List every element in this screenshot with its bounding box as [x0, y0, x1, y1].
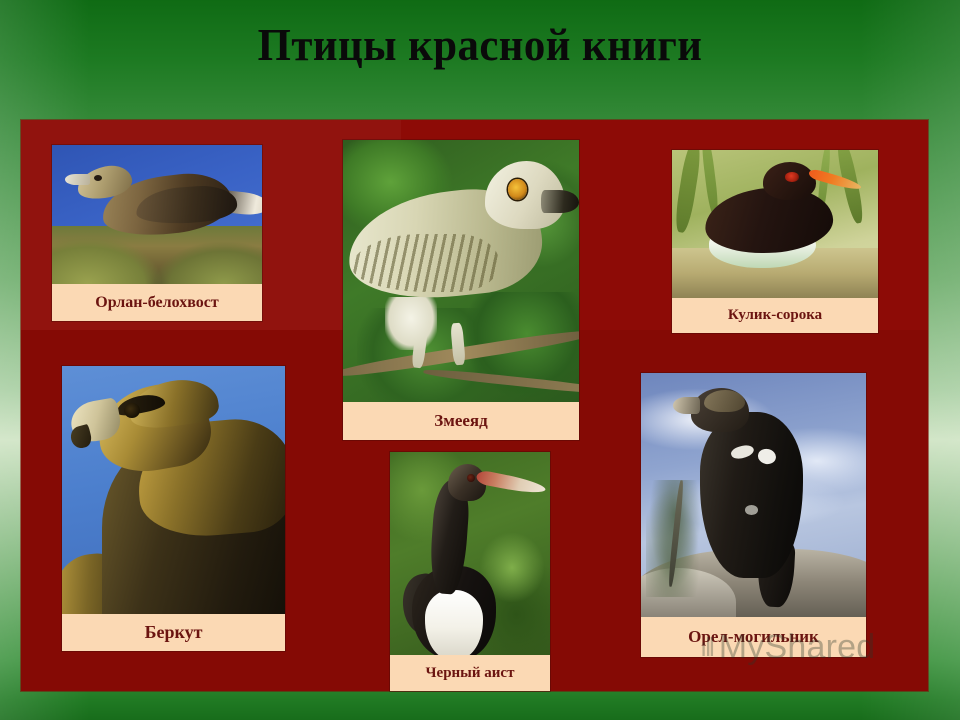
- bird-photo-zmeeyad: [343, 140, 579, 402]
- bird-card-berkut[interactable]: Беркут: [62, 366, 285, 651]
- bird-caption-orel-mogilnik: Орел-могильник: [641, 617, 866, 657]
- bird-photo-berkut: [62, 366, 285, 614]
- bird-caption-berkut: Беркут: [62, 614, 285, 651]
- bird-photo-chernyy-aist: [390, 452, 550, 655]
- bird-caption-chernyy-aist: Черный аист: [390, 655, 550, 691]
- slide: Птицы красной книги Орлан-б: [0, 0, 960, 720]
- bird-caption-kulik-soroka: Кулик-сорока: [672, 298, 878, 333]
- content-panel: Орлан-белохвост: [21, 120, 928, 691]
- bird-card-kulik-soroka[interactable]: Кулик-сорока: [672, 150, 878, 333]
- bird-photo-kulik-soroka: [672, 150, 878, 298]
- bird-caption-zmeeyad: Змееяд: [343, 402, 579, 440]
- bird-card-orlan-belohvost[interactable]: Орлан-белохвост: [52, 145, 262, 321]
- page-title: Птицы красной книги: [34, 14, 927, 76]
- bird-caption-orlan-belohvost: Орлан-белохвост: [52, 284, 262, 321]
- bird-card-orel-mogilnik[interactable]: Орел-могильник: [641, 373, 866, 657]
- bird-card-chernyy-aist[interactable]: Черный аист: [390, 452, 550, 691]
- bird-photo-orel-mogilnik: [641, 373, 866, 617]
- bird-photo-orlan-belohvost: [52, 145, 262, 284]
- bird-card-zmeeyad[interactable]: Змееяд: [343, 140, 579, 440]
